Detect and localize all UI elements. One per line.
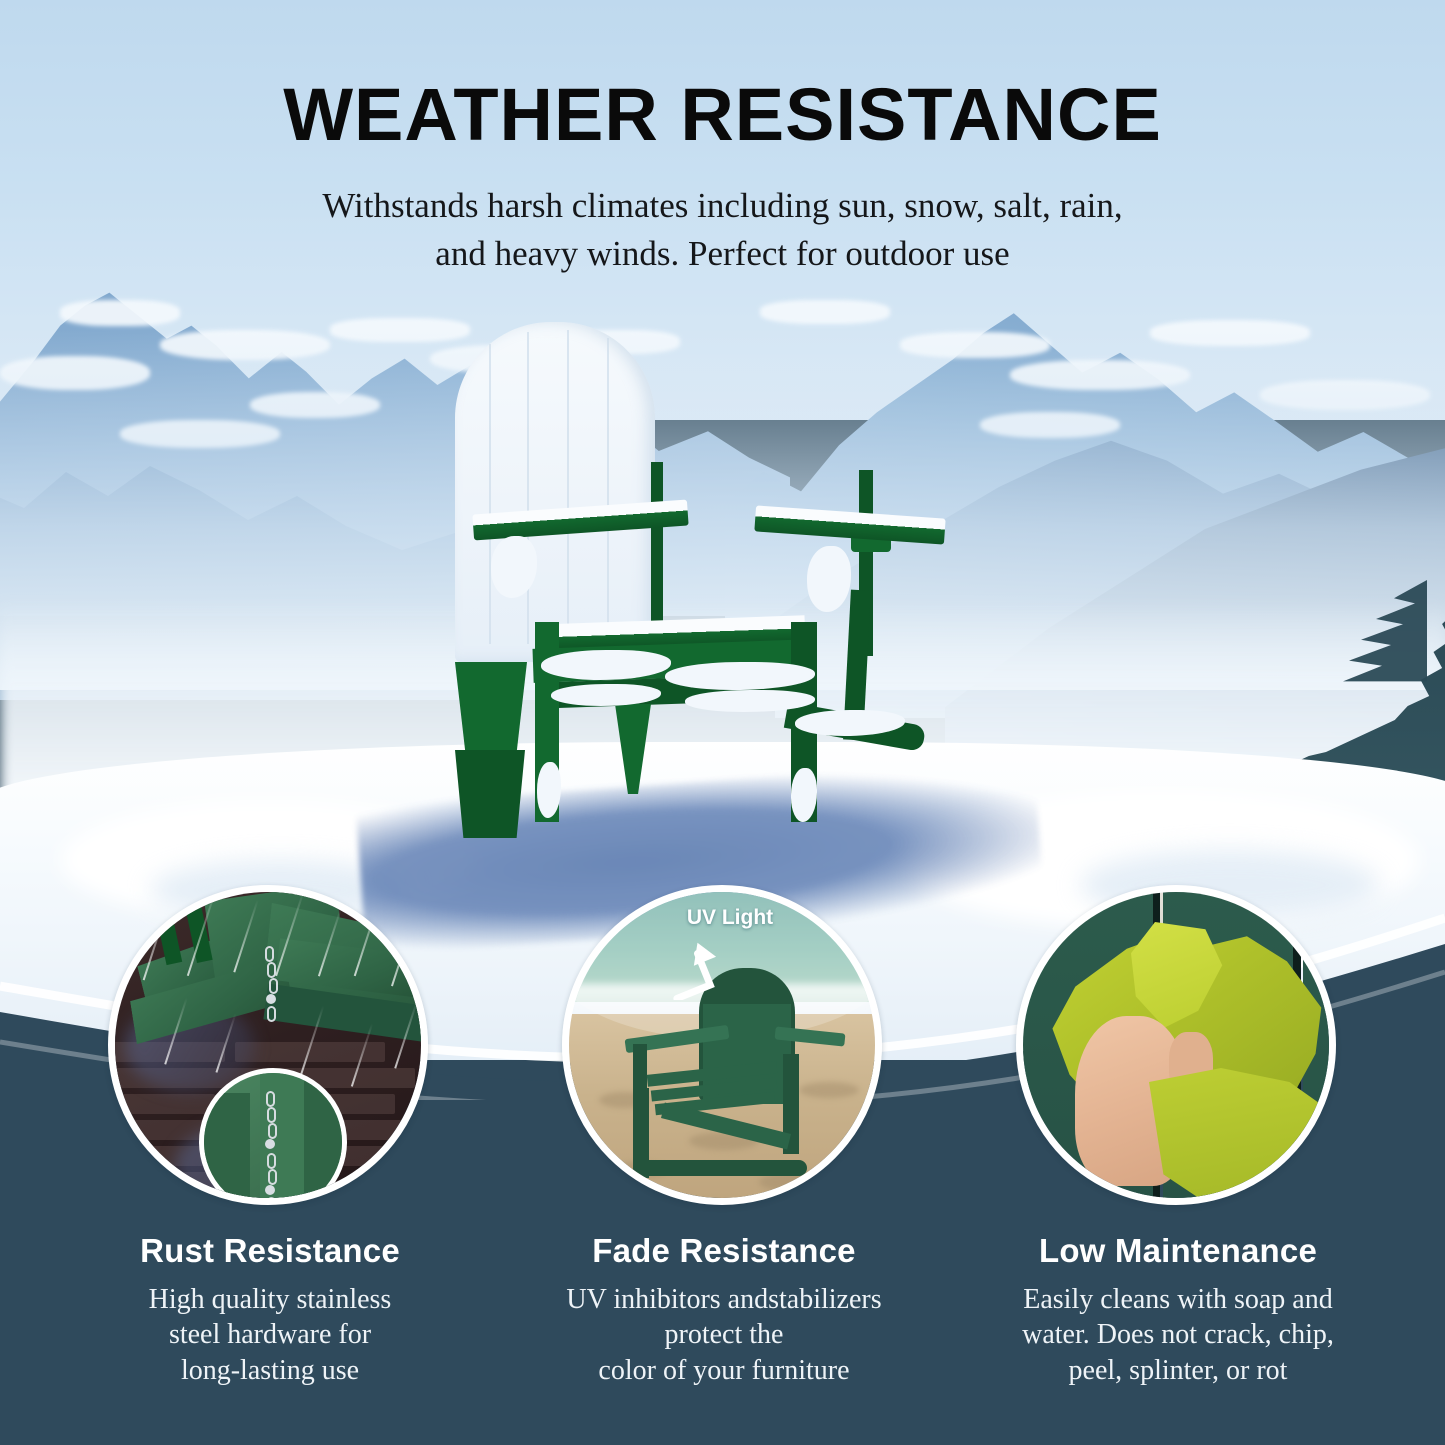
feature-body: UV inhibitors andstabilizers protect the… [514, 1282, 934, 1388]
header-block: WEATHER RESISTANCE Withstands harsh clim… [0, 0, 1445, 279]
infographic-root: WEATHER RESISTANCE Withstands harsh clim… [0, 0, 1445, 1445]
snowcap [60, 300, 180, 326]
feature-image-fade-resistance: UV Light [562, 885, 882, 1205]
feature-image-low-maintenance [1016, 885, 1336, 1205]
snow-patch [807, 546, 851, 612]
subtitle-line-2: and heavy winds. Perfect for outdoor use [0, 230, 1445, 278]
feature-body: High quality stainless steel hardware fo… [60, 1282, 480, 1388]
feature-caption-low-maintenance: Low Maintenance Easily cleans with soap … [968, 1232, 1388, 1388]
feature-title: Fade Resistance [514, 1232, 934, 1270]
chair-runner [647, 1160, 807, 1176]
feature-image-rust-resistance [108, 885, 428, 1205]
page-title: WEATHER RESISTANCE [0, 78, 1445, 152]
feature-body: Easily cleans with soap and water. Does … [968, 1282, 1388, 1388]
subtitle-line-1: Withstands harsh climates including sun,… [0, 182, 1445, 230]
feature-caption-rust-resistance: Rust Resistance High quality stainless s… [60, 1232, 480, 1388]
chair-arm-support-right [455, 750, 525, 838]
chair-backrest [455, 322, 655, 662]
adirondack-chair-beach [607, 968, 857, 1188]
rust-detail-inset [199, 1068, 347, 1205]
chair-support-bar [661, 1103, 791, 1150]
feature-title: Rust Resistance [60, 1232, 480, 1270]
snowcap [760, 300, 890, 324]
adirondack-chair-snow [455, 322, 955, 842]
chair-brace [615, 704, 651, 794]
feature-caption-fade-resistance: Fade Resistance UV inhibitors andstabili… [514, 1232, 934, 1388]
uv-light-label: UV Light [625, 906, 835, 930]
uv-light-arrow [665, 938, 735, 1000]
chair-arm-support-left [455, 662, 527, 750]
feature-title: Low Maintenance [968, 1232, 1388, 1270]
chair-arm-right [754, 505, 945, 544]
page-subtitle: Withstands harsh climates including sun,… [0, 182, 1445, 279]
